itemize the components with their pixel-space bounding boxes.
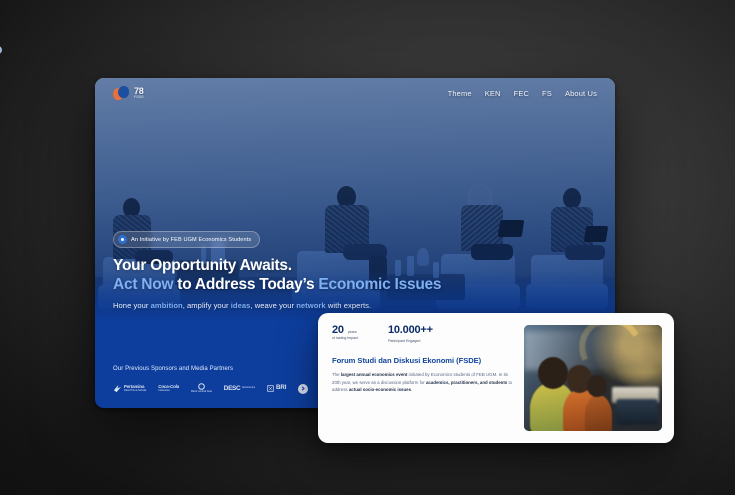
photo-attendee-head [538,357,568,389]
bri-icon [267,385,274,392]
stat-value: 20 [332,325,344,336]
hero-headline-line1: Your Opportunity Awaits. [113,257,553,276]
sponsor-logo-list: Pertamina Pasti Prima Terbaik Coca-Cola … [113,383,343,394]
sub-text-2: , amplify your [183,301,231,310]
sponsor-name: BRI [276,385,286,392]
card-side-dot [0,46,2,54]
sponsor-sub: Economics [242,387,255,390]
stat-label-line1: Participant Engaged [388,339,433,343]
nav-link-theme[interactable]: Theme [448,89,472,98]
logo-mark-icon [113,86,132,101]
nav-link-ken[interactable]: KEN [485,89,501,98]
badge-dot-icon [118,235,127,244]
stat-participants: 10.000++ Participant Engaged [388,325,433,343]
hero-headline-accent2: Economic Issues [318,276,441,293]
card-heading: Forum Studi dan Diskusi Ekonomi (FSDE) [332,356,514,365]
hero-copy-block: An Initiative by FEB UGM Economics Stude… [113,228,553,310]
card-statistics: 20 years of lasting impact 10.000++ Part… [332,325,514,343]
stat-label-line1: years [348,330,357,334]
hero-headline-mid: to Address Today’s [173,276,318,293]
card-p-bold-3: actual socio-economic issues [349,387,411,392]
sponsor-sub: Indonesia [158,390,179,393]
stat-value: 10.000++ [388,325,433,336]
stat-years: 20 years of lasting impact [332,325,358,340]
sponsors-section: Our Previous Sponsors and Media Partners… [113,366,343,394]
card-p-1: The [332,372,341,377]
fsde-info-card: 20 years of lasting impact 10.000++ Part… [318,313,674,443]
nav-link-fs[interactable]: FS [542,89,552,98]
photo-attendee-head [587,375,606,397]
hero-badge-label: An Initiative by FEB UGM Economics Stude… [131,237,251,243]
sub-highlight-ideas: ideas [231,301,251,310]
sponsor-logo-pertamina[interactable]: Pertamina Pasti Prima Terbaik [113,384,146,393]
stat-label-line2: of lasting impact [332,336,358,340]
sub-text-4: with experts. [326,301,371,310]
hero-headline-accent: Act Now [113,276,173,293]
hero-headline-line2: Act Now to Address Today’s Economic Issu… [113,276,553,295]
sponsor-sub: Pasti Prima Terbaik [124,390,146,393]
card-p-4: . [411,387,412,392]
logo-subtext: FSDE [134,96,144,100]
card-p-bold-1: largest annual economics event [341,372,408,377]
sponsor-logo-bri[interactable]: BRI [267,385,286,392]
nav-link-fec[interactable]: FEC [514,89,529,98]
site-logo[interactable]: 78 FSDE [113,86,144,101]
sponsor-name: DESC [224,385,241,392]
hero-subheadline: Hone your ambition, amplify your ideas, … [113,301,553,310]
sponsor-logo-cocacola[interactable]: Coca-Cola Indonesia [158,385,179,393]
sponsor-logo-bca[interactable]: Bank Central Asia [191,383,212,394]
card-left-column: 20 years of lasting impact 10.000++ Part… [332,325,514,431]
photo-dark-block [616,399,657,424]
sub-highlight-ambition: ambition [151,301,183,310]
nav-links: Theme KEN FEC FS About Us [448,89,597,98]
sponsors-title: Our Previous Sponsors and Media Partners [113,366,343,372]
card-audience-photo [524,325,662,431]
chevron-right-icon [301,386,305,390]
top-navigation-bar: 78 FSDE Theme KEN FEC FS About Us [95,78,615,108]
sponsors-next-button[interactable] [298,384,308,394]
sub-text-1: Hone your [113,301,151,310]
pertamina-icon [113,384,122,393]
photo-attendee [585,395,613,431]
hero-initiative-badge: An Initiative by FEB UGM Economics Stude… [113,231,260,248]
card-paragraph: The largest annual economics event initi… [332,371,514,392]
sponsor-logo-desc[interactable]: DESC Economics [224,385,255,392]
card-p-bold-2: academics, practitioners, and students [426,380,507,385]
sponsor-sub: Bank Central Asia [191,391,212,394]
sub-text-3: , weave your [250,301,296,310]
nav-link-about-us[interactable]: About Us [565,89,597,98]
sub-highlight-network: network [296,301,325,310]
